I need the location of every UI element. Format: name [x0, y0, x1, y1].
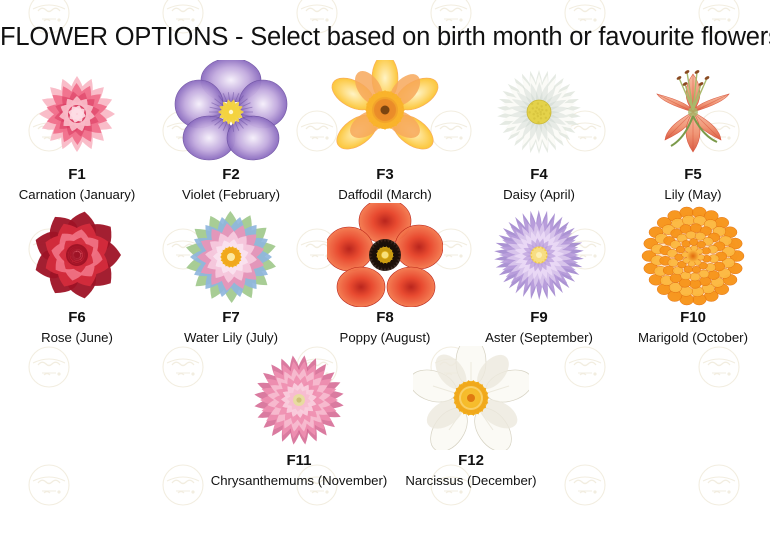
flower-option-f5[interactable]: F5Lily (May) [616, 60, 770, 203]
water-lily-icon [173, 203, 289, 307]
flower-option-f4[interactable]: F4Daisy (April) [462, 60, 616, 203]
flower-code: F9 [530, 309, 548, 328]
flower-grid: F1Carnation (January)F2Violet (February)… [0, 60, 770, 489]
aster-icon [481, 203, 597, 307]
flower-row: F6Rose (June)F7Water Lily (July)F8Poppy … [0, 203, 770, 346]
rose-icon [19, 203, 135, 307]
flower-name: Water Lily (July) [184, 329, 278, 346]
flower-option-f7[interactable]: F7Water Lily (July) [154, 203, 308, 346]
flower-name: Rose (June) [41, 329, 113, 346]
poppy-icon [327, 203, 443, 307]
flower-option-f9[interactable]: F9Aster (September) [462, 203, 616, 346]
violet-icon [173, 60, 289, 164]
lily-icon [635, 60, 751, 164]
flower-code: F11 [286, 452, 311, 471]
flower-code: F7 [222, 309, 240, 328]
flower-name: Narcissus (December) [405, 472, 536, 489]
marigold-icon [635, 203, 751, 307]
flower-option-f1[interactable]: F1Carnation (January) [0, 60, 154, 203]
flower-code: F1 [68, 166, 86, 185]
flower-name: Carnation (January) [19, 186, 136, 203]
flower-row: F1Carnation (January)F2Violet (February)… [0, 60, 770, 203]
flower-code: F2 [222, 166, 240, 185]
flower-row: F11Chrysanthemums (November)F12Narcissus… [0, 346, 770, 489]
flower-name: Chrysanthemums (November) [211, 472, 388, 489]
page-title: FLOWER OPTIONS - Select based on birth m… [0, 0, 770, 52]
carnation-icon [19, 60, 135, 164]
flower-name: Daisy (April) [503, 186, 575, 203]
flower-option-f11[interactable]: F11Chrysanthemums (November) [213, 346, 385, 489]
flower-code: F8 [376, 309, 394, 328]
flower-option-f8[interactable]: F8Poppy (August) [308, 203, 462, 346]
flower-option-f3[interactable]: F3Daffodil (March) [308, 60, 462, 203]
daffodil-icon [327, 60, 443, 164]
flower-option-f6[interactable]: F6Rose (June) [0, 203, 154, 346]
flower-code: F4 [530, 166, 548, 185]
flower-name: Lily (May) [664, 186, 721, 203]
flower-code: F10 [680, 309, 706, 328]
flower-name: Marigold (October) [638, 329, 748, 346]
flower-name: Aster (September) [485, 329, 593, 346]
flower-name: Poppy (August) [340, 329, 431, 346]
flower-name: Violet (February) [182, 186, 280, 203]
flower-option-f12[interactable]: F12Narcissus (December) [385, 346, 557, 489]
chrysanthemum-icon [241, 346, 357, 450]
flower-code: F6 [68, 309, 86, 328]
narcissus-icon [413, 346, 529, 450]
daisy-icon [481, 60, 597, 164]
flower-name: Daffodil (March) [338, 186, 432, 203]
flower-option-f10[interactable]: F10Marigold (October) [616, 203, 770, 346]
flower-code: F3 [376, 166, 394, 185]
flower-code: F5 [684, 166, 702, 185]
flower-option-f2[interactable]: F2Violet (February) [154, 60, 308, 203]
flower-code: F12 [458, 452, 484, 471]
